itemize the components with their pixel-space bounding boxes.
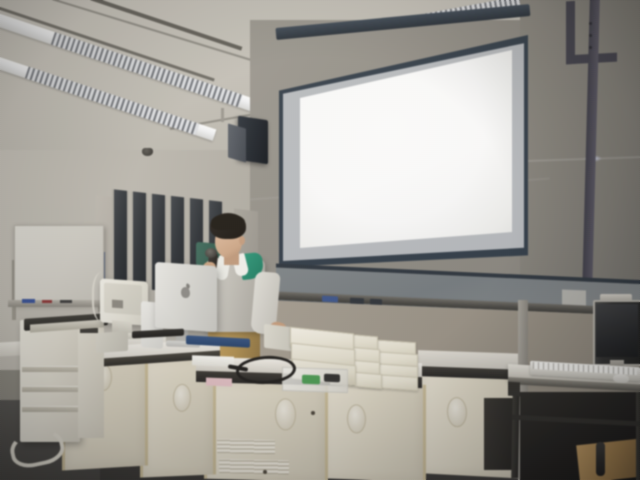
cabinet-door-3[interactable] [204, 383, 328, 480]
classroom-photo [0, 0, 640, 480]
eraser-blue[interactable] [322, 296, 338, 303]
whiteboard-easel[interactable] [14, 225, 104, 304]
cabinet-screw [263, 470, 267, 474]
microphone-stand-base[interactable] [596, 442, 605, 476]
speaker-grille-icon [228, 123, 246, 162]
marker-red[interactable] [42, 300, 52, 303]
copier-drawer[interactable] [22, 386, 78, 392]
bracket-hole [589, 34, 592, 37]
cabinet-ventilation-louver [217, 439, 275, 454]
surveillance-camera-icon [142, 148, 153, 156]
cabinet-handle[interactable] [447, 397, 467, 428]
cabinet-handle[interactable] [347, 404, 366, 434]
marker-blue[interactable] [22, 299, 35, 303]
pink-card[interactable] [206, 378, 232, 387]
desk-leg-right [636, 392, 640, 480]
cabinet-handle[interactable] [275, 398, 296, 430]
desktop-speaker-left [96, 331, 128, 353]
cardboard-box-under-desk[interactable] [576, 439, 640, 480]
desk-bracket [508, 382, 520, 397]
microphone-head-icon [205, 248, 217, 258]
presenter-ear [239, 236, 245, 245]
bracket-hole [589, 46, 592, 49]
presenter-hair-front [211, 214, 245, 230]
office-copier-printer[interactable] [20, 320, 80, 442]
bracket-hole [589, 22, 592, 25]
green-accessory-in-bag [302, 375, 320, 385]
legacy-monitor-logo [112, 300, 123, 309]
copier-drawer[interactable] [22, 406, 78, 412]
legacy-monitor-screen [104, 283, 142, 316]
marker-black[interactable] [60, 300, 72, 303]
locker-panel[interactable] [131, 191, 148, 289]
cabinet-door-4[interactable] [320, 381, 426, 480]
cabinet-ventilation-louver [219, 459, 289, 474]
white-mouse[interactable] [613, 374, 629, 384]
copier-drawer[interactable] [22, 366, 78, 372]
cabinet-handle[interactable] [173, 383, 191, 412]
lcd-monitor-screen[interactable] [596, 304, 638, 357]
cabinet-screw [311, 411, 315, 415]
dark-accessory-in-bag [324, 374, 340, 383]
